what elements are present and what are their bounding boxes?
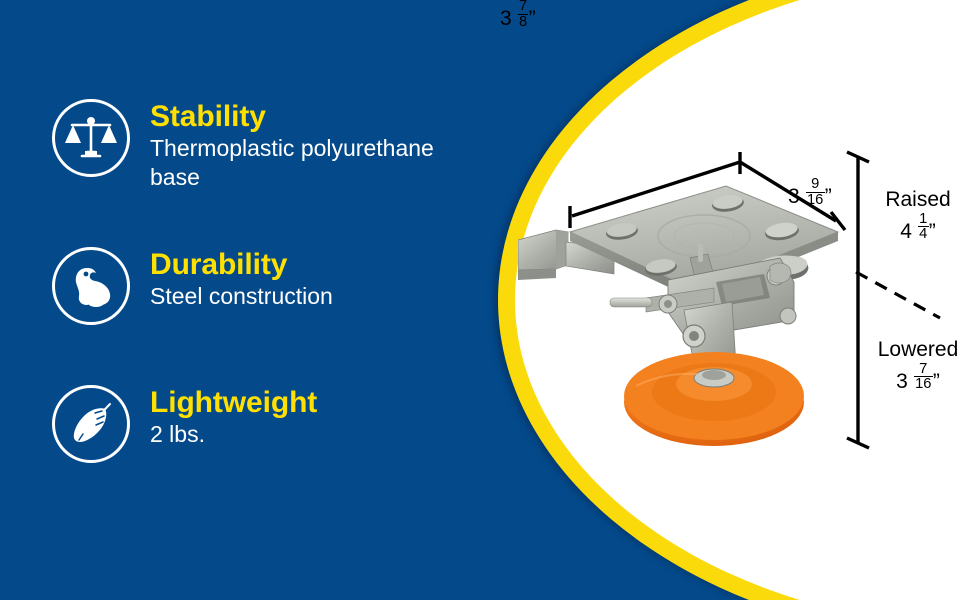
fraction-lowered: 716 — [914, 362, 933, 392]
dimension-label-lowered-title: Lowered — [868, 338, 968, 363]
feature-description: Steel construction — [150, 282, 333, 311]
feature-text-stability: Stability Thermoplastic polyurethane bas… — [150, 99, 434, 192]
feature-description: Thermoplastic polyurethane base — [150, 134, 434, 192]
feature-item-stability: Stability Thermoplastic polyurethane bas… — [52, 99, 434, 192]
orange-tpu-base-pad — [624, 352, 804, 446]
dimension-label-lowered-value: 3 716” — [868, 363, 968, 395]
floor-lock-caster-photo — [518, 170, 858, 460]
feature-item-lightweight: Lightweight 2 lbs. — [52, 385, 317, 463]
fraction-raised: 14 — [918, 212, 929, 242]
dimension-label-depth: 3 916” — [788, 178, 832, 210]
dimension-label-lowered: Lowered 3 716” — [868, 338, 968, 394]
feature-text-lightweight: Lightweight 2 lbs. — [150, 385, 317, 449]
feature-description: 2 lbs. — [150, 420, 317, 449]
dimension-label-width: 3 78” — [500, 0, 536, 32]
dimension-label-raised: Raised 4 14” — [872, 188, 964, 244]
feature-list: Stability Thermoplastic polyurethane bas… — [0, 0, 500, 600]
feather-icon — [52, 385, 130, 463]
feature-title: Lightweight — [150, 387, 317, 419]
feature-title: Stability — [150, 101, 434, 133]
fraction-width: 78 — [518, 0, 529, 29]
dimension-label-raised-title: Raised — [872, 188, 964, 213]
product-feature-infographic: Stability Thermoplastic polyurethane bas… — [0, 0, 970, 600]
feature-text-durability: Durability Steel construction — [150, 247, 333, 311]
product-illustration-area: 3 78” 3 916” Raised 4 14” Lowered 3 716” — [500, 0, 970, 600]
fraction-depth: 916 — [806, 177, 825, 207]
balance-scale-icon — [52, 99, 130, 177]
dim-divider-dashed — [856, 272, 940, 318]
feature-item-durability: Durability Steel construction — [52, 247, 333, 325]
feature-title: Durability — [150, 249, 333, 281]
flexed-bicep-icon — [52, 247, 130, 325]
dimension-label-raised-value: 4 14” — [872, 213, 964, 245]
